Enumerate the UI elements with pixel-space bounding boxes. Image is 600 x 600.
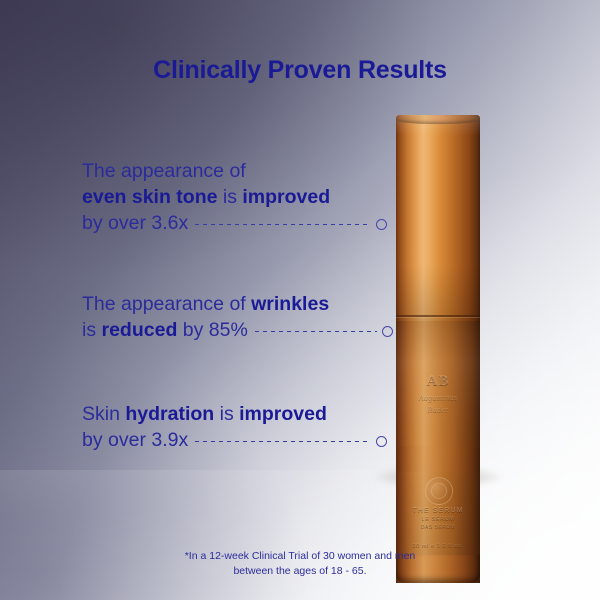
- claim-text: The appearance of: [82, 160, 246, 182]
- claim-highlight: hydration: [125, 403, 214, 425]
- bottle-cap-shading: [396, 115, 480, 323]
- claim-highlight: reduced: [102, 319, 178, 341]
- footnote-line-1: *In a 12-week Clinical Trial of 30 women…: [0, 549, 600, 564]
- claim-highlight: wrinkles: [251, 293, 329, 315]
- claim-line-with-leader: by over 3.9x: [82, 427, 387, 453]
- claim-metric-text: by over 3.9x: [82, 427, 188, 453]
- leader-endpoint-dot: [376, 436, 387, 447]
- claim-text: is: [214, 403, 239, 425]
- claim-text: by 85%: [177, 319, 247, 341]
- surface-reflection-band: [0, 470, 600, 600]
- leader-line: [195, 224, 371, 225]
- leader-line: [255, 331, 377, 332]
- claim-text: is: [217, 186, 242, 208]
- claim-text: Skin: [82, 403, 125, 425]
- claim-highlight: even skin tone: [82, 186, 217, 208]
- claim-highlight: improved: [242, 186, 330, 208]
- claim-text: The appearance of: [82, 293, 251, 315]
- marketing-image: Clinically Proven Results The appearance…: [0, 0, 600, 600]
- bottle-seam-ring-upper: [396, 315, 480, 317]
- claim-hydration: Skin hydration is improved by over 3.9x: [82, 401, 387, 453]
- claim-text: is: [82, 319, 102, 341]
- reflection-body: [396, 354, 480, 446]
- product-reflection: [396, 354, 480, 472]
- reflection-base: [396, 444, 480, 472]
- claim-metric-text: is reduced by 85%: [82, 317, 248, 343]
- claim-highlight: improved: [239, 403, 327, 425]
- claim-line: The appearance of: [82, 158, 387, 184]
- claim-line: even skin tone is improved: [82, 184, 387, 210]
- claim-even-skin-tone: The appearance of even skin tone is impr…: [82, 158, 387, 236]
- leader-endpoint-dot: [376, 219, 387, 230]
- brand-emblem-icon: [425, 477, 453, 505]
- claim-line-with-leader: by over 3.6x: [82, 210, 387, 236]
- claim-line: The appearance of wrinkles: [82, 291, 393, 317]
- claim-metric-text: by over 3.6x: [82, 210, 188, 236]
- page-title: Clinically Proven Results: [0, 56, 600, 85]
- claim-line: Skin hydration is improved: [82, 401, 387, 427]
- footnote: *In a 12-week Clinical Trial of 30 women…: [0, 549, 600, 579]
- footnote-line-2: between the ages of 18 - 65.: [0, 564, 600, 579]
- leader-endpoint-dot: [382, 326, 393, 337]
- leader-line: [195, 441, 371, 442]
- claim-line-with-leader: is reduced by 85%: [82, 317, 393, 343]
- claim-wrinkles: The appearance of wrinkles is reduced by…: [82, 291, 393, 343]
